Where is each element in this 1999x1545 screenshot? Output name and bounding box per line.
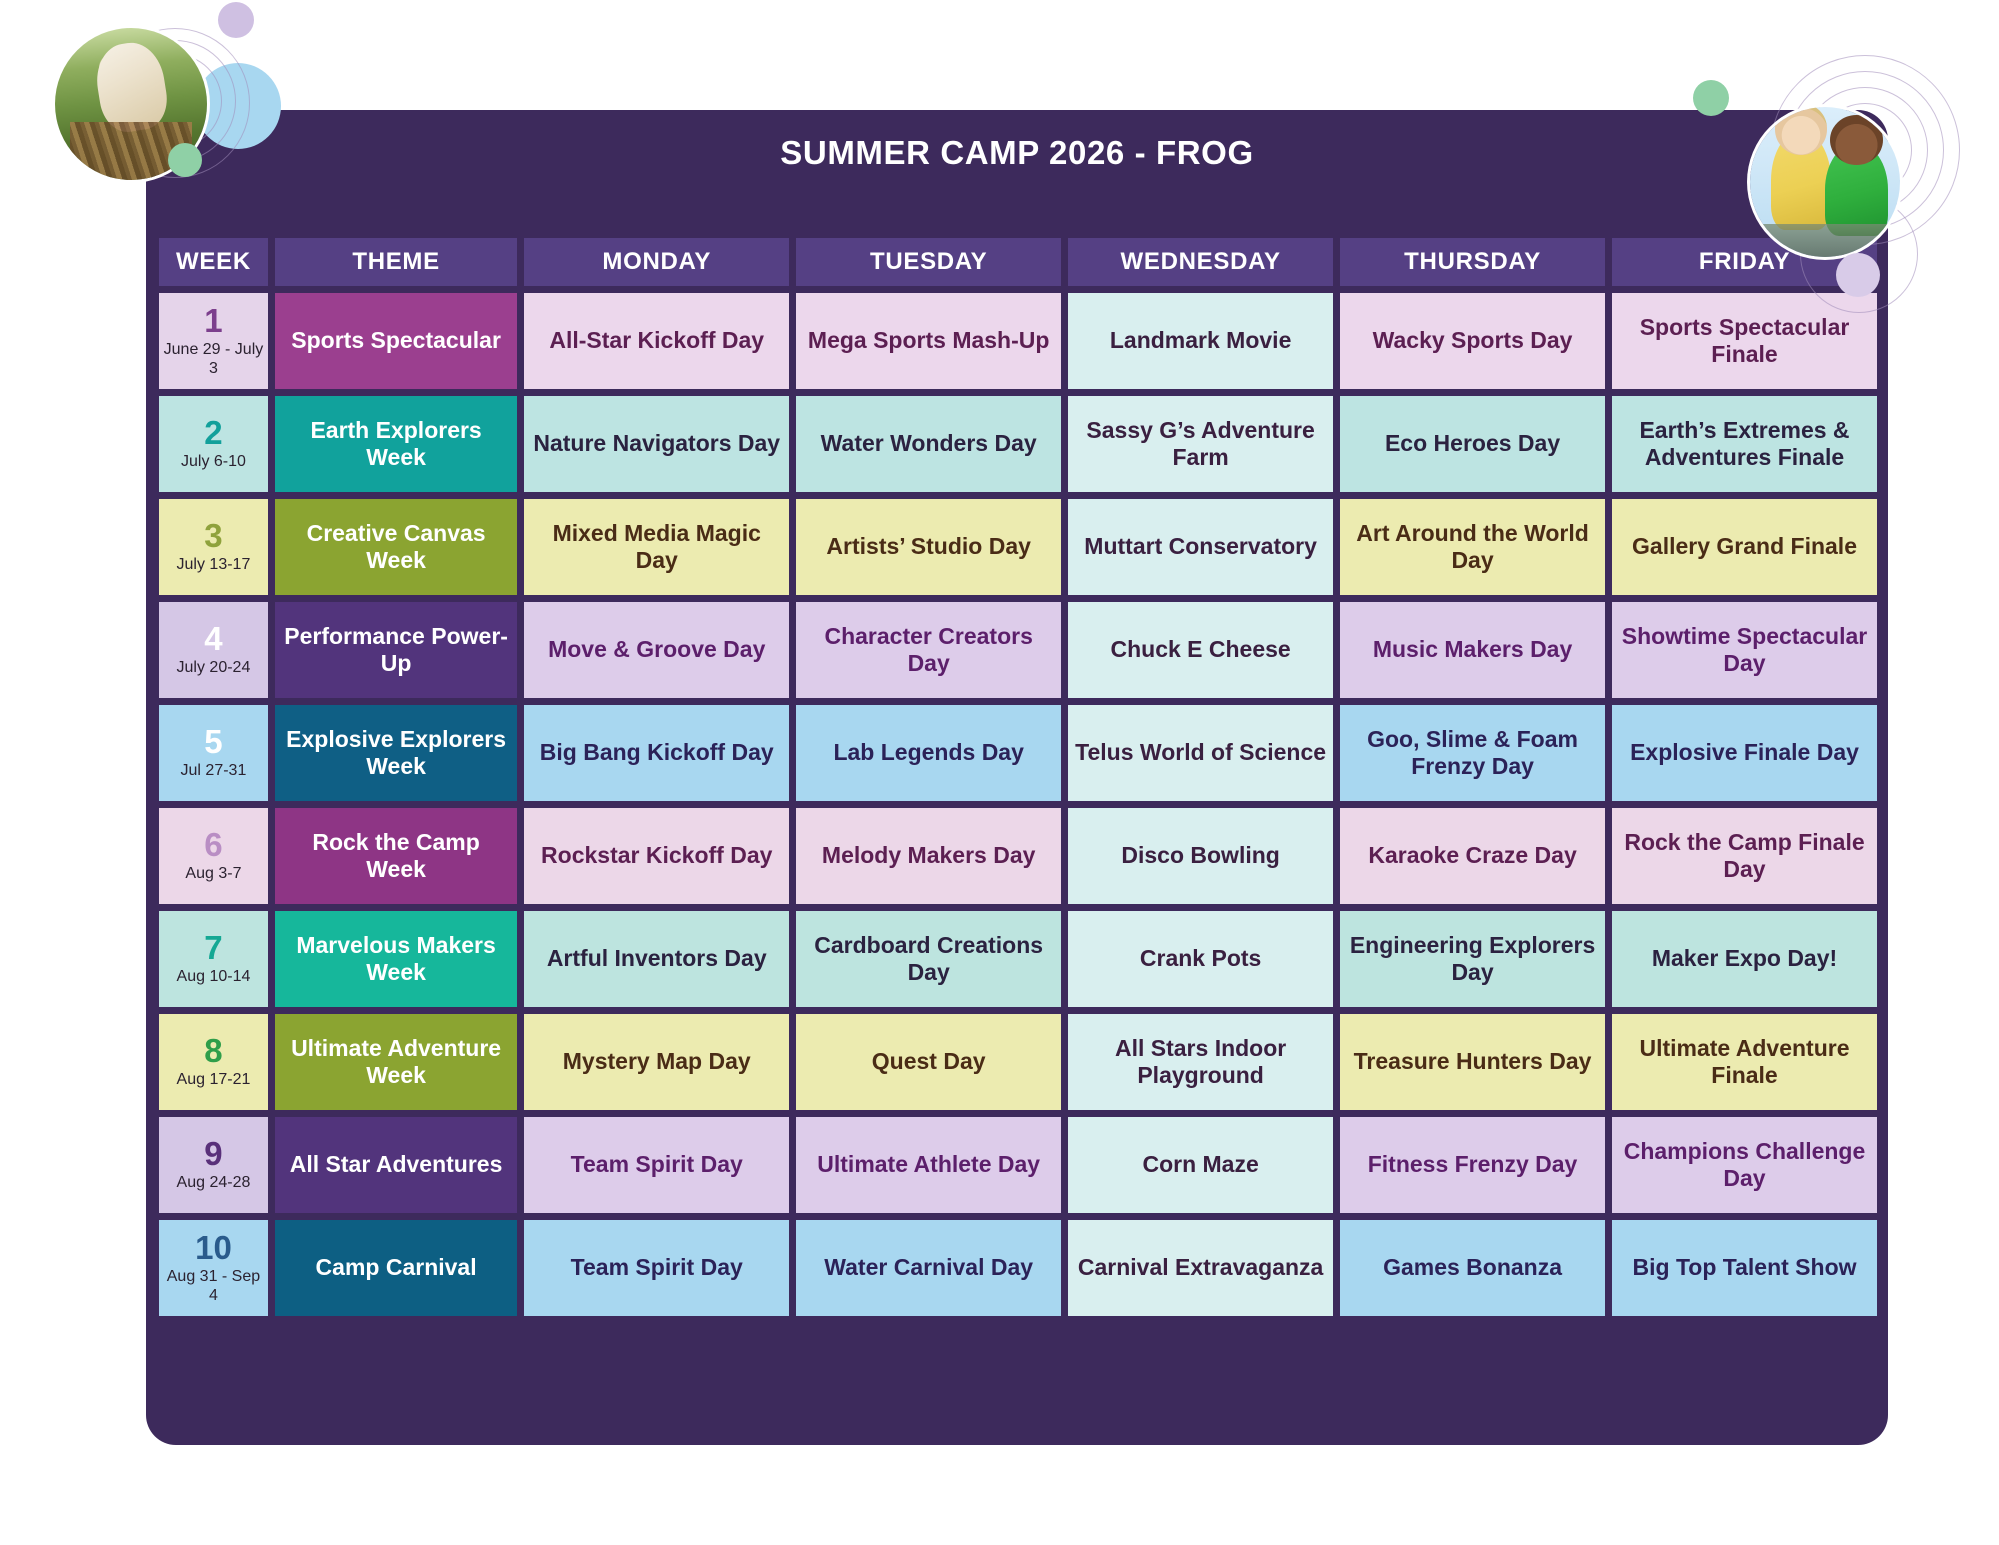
column-header-theme: THEME — [273, 236, 519, 288]
week-cell: 8Aug 17-21 — [157, 1012, 270, 1112]
theme-cell: Marvelous Makers Week — [273, 909, 519, 1009]
activity-cell-tuesday: Artists’ Studio Day — [794, 497, 1063, 597]
week-cell: 7Aug 10-14 — [157, 909, 270, 1009]
activity-cell-monday: Mystery Map Day — [522, 1012, 791, 1112]
theme-cell: Performance Power-Up — [273, 600, 519, 700]
theme-cell: Explosive Explorers Week — [273, 703, 519, 803]
activity-cell-tuesday: Ultimate Athlete Day — [794, 1115, 1063, 1215]
theme-cell: Ultimate Adventure Week — [273, 1012, 519, 1112]
activity-cell-thursday: Art Around the World Day — [1338, 497, 1607, 597]
table-row: 4July 20-24Performance Power-UpMove & Gr… — [157, 600, 1879, 700]
column-header-monday: MONDAY — [522, 236, 791, 288]
activity-cell-friday: Rock the Camp Finale Day — [1610, 806, 1879, 906]
activity-cell-monday: All-Star Kickoff Day — [522, 291, 791, 391]
week-number: 9 — [161, 1137, 266, 1170]
activity-cell-thursday: Fitness Frenzy Day — [1338, 1115, 1607, 1215]
activity-cell-wednesday: Landmark Movie — [1066, 291, 1335, 391]
poster-canvas: SUMMER CAMP 2026 - FROG WEEK THEME MONDA… — [0, 0, 1999, 1545]
activity-cell-tuesday: Water Wonders Day — [794, 394, 1063, 494]
week-cell: 2July 6-10 — [157, 394, 270, 494]
week-dates: Aug 10-14 — [161, 968, 266, 987]
week-number: 10 — [161, 1231, 266, 1264]
camp-schedule-table: WEEK THEME MONDAY TUESDAY WEDNESDAY THUR… — [154, 233, 1882, 1321]
activity-cell-wednesday: Crank Pots — [1066, 909, 1335, 1009]
week-dates: Aug 17-21 — [161, 1071, 266, 1090]
activity-cell-friday: Sports Spectacular Finale — [1610, 291, 1879, 391]
week-number: 6 — [161, 828, 266, 861]
activity-cell-tuesday: Water Carnival Day — [794, 1218, 1063, 1318]
activity-cell-tuesday: Cardboard Creations Day — [794, 909, 1063, 1009]
week-number: 7 — [161, 931, 266, 964]
activity-cell-monday: Team Spirit Day — [522, 1115, 791, 1215]
table-row: 3July 13-17Creative Canvas WeekMixed Med… — [157, 497, 1879, 597]
activity-cell-friday: Champions Challenge Day — [1610, 1115, 1879, 1215]
week-cell: 1June 29 - July 3 — [157, 291, 270, 391]
activity-cell-wednesday: Telus World of Science — [1066, 703, 1335, 803]
activity-cell-monday: Team Spirit Day — [522, 1218, 791, 1318]
activity-cell-friday: Explosive Finale Day — [1610, 703, 1879, 803]
theme-cell: Sports Spectacular — [273, 291, 519, 391]
activity-cell-thursday: Treasure Hunters Day — [1338, 1012, 1607, 1112]
week-cell: 9Aug 24-28 — [157, 1115, 270, 1215]
column-header-thursday: THURSDAY — [1338, 236, 1607, 288]
activity-cell-thursday: Goo, Slime & Foam Frenzy Day — [1338, 703, 1607, 803]
theme-cell: Camp Carnival — [273, 1218, 519, 1318]
activity-cell-thursday: Music Makers Day — [1338, 600, 1607, 700]
activity-cell-friday: Showtime Spectacular Day — [1610, 600, 1879, 700]
week-cell: 6Aug 3-7 — [157, 806, 270, 906]
week-cell: 5Jul 27-31 — [157, 703, 270, 803]
activity-cell-friday: Maker Expo Day! — [1610, 909, 1879, 1009]
column-header-friday: FRIDAY — [1610, 236, 1879, 288]
theme-cell: Earth Explorers Week — [273, 394, 519, 494]
activity-cell-tuesday: Melody Makers Day — [794, 806, 1063, 906]
theme-cell: All Star Adventures — [273, 1115, 519, 1215]
week-cell: 3July 13-17 — [157, 497, 270, 597]
activity-cell-monday: Nature Navigators Day — [522, 394, 791, 494]
activity-cell-tuesday: Character Creators Day — [794, 600, 1063, 700]
activity-cell-thursday: Engineering Explorers Day — [1338, 909, 1607, 1009]
week-dates: Jul 27-31 — [161, 762, 266, 781]
table-body: 1June 29 - July 3Sports SpectacularAll-S… — [157, 291, 1879, 1318]
week-dates: July 20-24 — [161, 659, 266, 678]
theme-cell: Rock the Camp Week — [273, 806, 519, 906]
table-row: 1June 29 - July 3Sports SpectacularAll-S… — [157, 291, 1879, 391]
activity-cell-thursday: Eco Heroes Day — [1338, 394, 1607, 494]
table-row: 10Aug 31 - Sep 4Camp CarnivalTeam Spirit… — [157, 1218, 1879, 1318]
table-row: 7Aug 10-14Marvelous Makers WeekArtful In… — [157, 909, 1879, 1009]
activity-cell-thursday: Karaoke Craze Day — [1338, 806, 1607, 906]
activity-cell-wednesday: Muttart Conservatory — [1066, 497, 1335, 597]
week-number: 2 — [161, 416, 266, 449]
activity-cell-wednesday: Chuck E Cheese — [1066, 600, 1335, 700]
activity-cell-friday: Gallery Grand Finale — [1610, 497, 1879, 597]
table-row: 5Jul 27-31Explosive Explorers WeekBig Ba… — [157, 703, 1879, 803]
lilac-circle-icon — [218, 2, 254, 38]
week-dates: Aug 3-7 — [161, 865, 266, 884]
week-number: 4 — [161, 622, 266, 655]
table-row: 6Aug 3-7Rock the Camp WeekRockstar Kicko… — [157, 806, 1879, 906]
week-dates: June 29 - July 3 — [161, 341, 266, 379]
week-number: 3 — [161, 519, 266, 552]
activity-cell-wednesday: Corn Maze — [1066, 1115, 1335, 1215]
column-header-week: WEEK — [157, 236, 270, 288]
week-number: 8 — [161, 1034, 266, 1067]
activity-cell-tuesday: Lab Legends Day — [794, 703, 1063, 803]
activity-cell-friday: Big Top Talent Show — [1610, 1218, 1879, 1318]
week-number: 5 — [161, 725, 266, 758]
activity-cell-tuesday: Mega Sports Mash-Up — [794, 291, 1063, 391]
activity-cell-tuesday: Quest Day — [794, 1012, 1063, 1112]
activity-cell-wednesday: Disco Bowling — [1066, 806, 1335, 906]
theme-cell: Creative Canvas Week — [273, 497, 519, 597]
activity-cell-monday: Big Bang Kickoff Day — [522, 703, 791, 803]
activity-cell-thursday: Games Bonanza — [1338, 1218, 1607, 1318]
week-number: 1 — [161, 304, 266, 337]
table-row: 2July 6-10Earth Explorers WeekNature Nav… — [157, 394, 1879, 494]
week-dates: Aug 24-28 — [161, 1174, 266, 1193]
activity-cell-monday: Artful Inventors Day — [522, 909, 791, 1009]
activity-cell-monday: Rockstar Kickoff Day — [522, 806, 791, 906]
table-header-row: WEEK THEME MONDAY TUESDAY WEDNESDAY THUR… — [157, 236, 1879, 288]
table-row: 8Aug 17-21Ultimate Adventure WeekMystery… — [157, 1012, 1879, 1112]
week-dates: Aug 31 - Sep 4 — [161, 1268, 266, 1306]
column-header-tuesday: TUESDAY — [794, 236, 1063, 288]
activity-cell-monday: Mixed Media Magic Day — [522, 497, 791, 597]
column-header-wednesday: WEDNESDAY — [1066, 236, 1335, 288]
week-cell: 10Aug 31 - Sep 4 — [157, 1218, 270, 1318]
activity-cell-friday: Ultimate Adventure Finale — [1610, 1012, 1879, 1112]
activity-cell-wednesday: All Stars Indoor Playground — [1066, 1012, 1335, 1112]
week-cell: 4July 20-24 — [157, 600, 270, 700]
activity-cell-thursday: Wacky Sports Day — [1338, 291, 1607, 391]
week-dates: July 13-17 — [161, 556, 266, 575]
table-row: 9Aug 24-28All Star AdventuresTeam Spirit… — [157, 1115, 1879, 1215]
page-title: SUMMER CAMP 2026 - FROG — [146, 134, 1888, 172]
activity-cell-friday: Earth’s Extremes & Adventures Finale — [1610, 394, 1879, 494]
activity-cell-monday: Move & Groove Day — [522, 600, 791, 700]
week-dates: July 6-10 — [161, 453, 266, 472]
activity-cell-wednesday: Sassy G’s Adventure Farm — [1066, 394, 1335, 494]
activity-cell-wednesday: Carnival Extravaganza — [1066, 1218, 1335, 1318]
